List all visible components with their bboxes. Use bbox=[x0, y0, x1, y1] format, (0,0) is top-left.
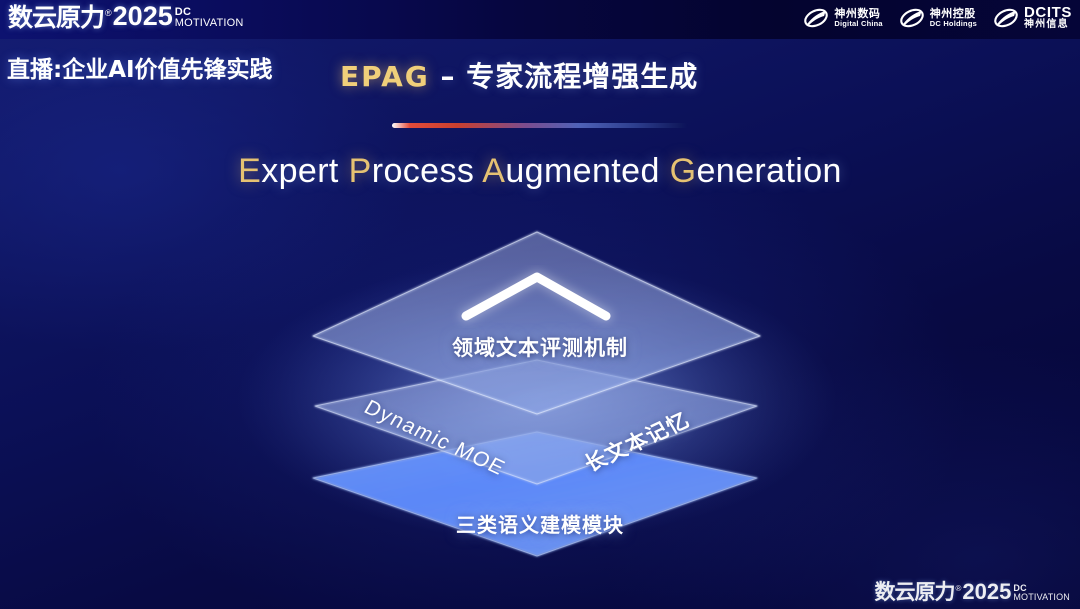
logo-dcits-en: DCITS bbox=[1024, 5, 1072, 20]
logo-digital-china-text: 神州数码 Digital China bbox=[834, 8, 882, 28]
top-layer-plate bbox=[313, 232, 760, 414]
digital-china-swoosh-icon bbox=[803, 7, 829, 29]
subtitle-cap-a: A bbox=[482, 152, 505, 190]
title-separator: – bbox=[430, 60, 467, 93]
brand-logo: 数云原力 ® 2025 DC MOTIVATION bbox=[8, 3, 244, 30]
logo-dcits-text: DCITS 神州信息 bbox=[1024, 5, 1072, 31]
stack-layer-top[interactable] bbox=[313, 232, 760, 414]
top-header-bar: 数云原力 ® 2025 DC MOTIVATION 神州数码 Digital C… bbox=[0, 0, 1080, 39]
subtitle-space-1 bbox=[339, 152, 349, 190]
partner-logo-group: 神州数码 Digital China 神州控股 DC Holdings bbox=[803, 5, 1072, 31]
watermark-motivation-text: MOTIVATION bbox=[1013, 593, 1070, 602]
subtitle-expansion: Expert Process Augmented Generation bbox=[0, 152, 1080, 191]
logo-digital-china-cn: 神州数码 bbox=[834, 8, 882, 20]
top-layer-label: 领域文本评测机制 bbox=[0, 332, 1080, 362]
live-broadcast-label: 直播:企业AI价值先锋实践 bbox=[7, 50, 273, 84]
subtitle-cap-e: E bbox=[238, 152, 261, 190]
logo-dc-holdings-en: DC Holdings bbox=[930, 20, 977, 28]
brand-tagline: DC MOTIVATION bbox=[175, 7, 244, 30]
middle-layer-label-right: 长文本记忆 bbox=[578, 404, 695, 477]
logo-dc-holdings: 神州控股 DC Holdings bbox=[899, 7, 977, 29]
watermark-registered-mark: ® bbox=[955, 585, 961, 593]
subtitle-cap-p: P bbox=[349, 152, 372, 190]
logo-digital-china-en: Digital China bbox=[834, 20, 882, 28]
logo-dcits-cn: 神州信息 bbox=[1024, 20, 1072, 31]
gradient-divider bbox=[392, 123, 688, 128]
top-layer-edge bbox=[313, 232, 760, 414]
bottom-layer-label: 三类语义建模模块 bbox=[0, 509, 1080, 538]
chevron-up-icon bbox=[466, 277, 606, 316]
watermark-tagline: DC MOTIVATION bbox=[1013, 584, 1070, 603]
subtitle-rest-expert: xpert bbox=[261, 152, 339, 190]
title-chinese: 专家流程增强生成 bbox=[466, 60, 698, 93]
brand-name-cn: 数云原力 bbox=[8, 5, 104, 30]
title-acronym: EPAG bbox=[340, 60, 430, 93]
subtitle-space-3 bbox=[660, 152, 670, 190]
watermark-name-cn: 数云原力 bbox=[874, 582, 954, 603]
slide-canvas: 数云原力 ® 2025 DC MOTIVATION 神州数码 Digital C… bbox=[0, 0, 1080, 609]
logo-dc-holdings-text: 神州控股 DC Holdings bbox=[930, 8, 977, 28]
stack-ambient-glow bbox=[237, 260, 837, 540]
top-layer-sheen bbox=[313, 232, 760, 414]
middle-layer-label-left: Dynamic MOE bbox=[360, 396, 510, 481]
dcits-swoosh-icon bbox=[993, 7, 1019, 29]
subtitle-rest-augmented: ugmented bbox=[505, 152, 659, 190]
subtitle-rest-process: rocess bbox=[372, 152, 475, 190]
brand-motivation-text: MOTIVATION bbox=[175, 18, 244, 29]
logo-dc-holdings-cn: 神州控股 bbox=[930, 8, 977, 20]
logo-digital-china: 神州数码 Digital China bbox=[803, 7, 882, 29]
subtitle-cap-g: G bbox=[670, 152, 697, 190]
subtitle-rest-generation: eneration bbox=[696, 152, 841, 190]
page-title: EPAG – 专家流程增强生成 bbox=[340, 55, 698, 95]
brand-registered-mark: ® bbox=[105, 9, 112, 18]
chevron-up-icon-glow bbox=[466, 277, 606, 316]
brand-year: 2025 bbox=[113, 3, 173, 30]
watermark-year: 2025 bbox=[962, 581, 1011, 603]
footer-watermark: 数云原力 ® 2025 DC MOTIVATION bbox=[874, 581, 1070, 603]
logo-dcits: DCITS 神州信息 bbox=[993, 5, 1072, 31]
dc-holdings-swoosh-icon bbox=[899, 7, 925, 29]
